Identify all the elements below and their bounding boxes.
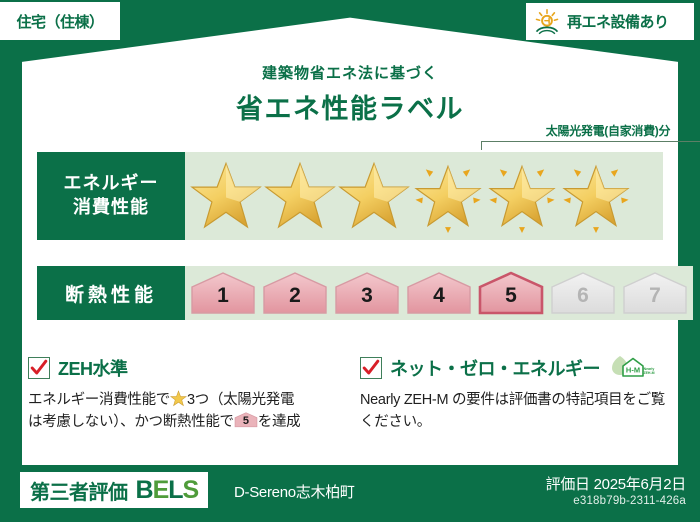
sun-icon — [533, 8, 561, 36]
criterion-zeh-body-mid: は考慮しない）、かつ断熱性能で — [28, 414, 234, 430]
criterion-zeh-title: ZEH水準 — [58, 355, 128, 381]
building-type-chip: 住宅（住棟） — [0, 2, 120, 40]
insulation-performance-row: 断熱性能 1 — [37, 266, 663, 320]
evaluation-date-label: 評価日 — [546, 476, 590, 493]
renewable-equipment-badge: 再エネ設備あり — [526, 3, 694, 40]
insulation-chip-6: 6 — [549, 271, 617, 315]
evaluation-date: 評価日 2025年6月2日 — [546, 473, 686, 494]
energy-star-2 — [263, 159, 337, 233]
insulation-chip-5-achieved: 5 — [477, 271, 545, 315]
insulation-chip-4: 4 — [405, 271, 473, 315]
check-icon — [28, 357, 50, 379]
energy-star-1 — [189, 159, 263, 233]
energy-star-6-solar — [559, 159, 633, 233]
insulation-label-text: 断熱性能 — [65, 280, 157, 307]
bels-energy-label: 住宅（住棟） 再エネ設備あり 建築物省エネ法に基づく 省エネ性能ラベル — [0, 0, 700, 522]
evaluation-date-value: 2025年6月2日 — [594, 476, 686, 493]
label-footer: 第三者評価 BELS D-Sereno志木柏町 評価日 2025年6月2日 e3… — [0, 464, 700, 522]
insulation-chip-1: 1 — [189, 271, 257, 315]
energy-performance-label: エネルギー 消費性能 — [37, 152, 185, 240]
energy-star-4-solar — [411, 159, 485, 233]
energy-star-5-solar — [485, 159, 559, 233]
inline-insulation-level-icon: 5 — [234, 412, 258, 429]
check-icon — [360, 357, 382, 379]
energy-label-line2: 消費性能 — [73, 196, 149, 220]
building-type-label: 住宅（住棟） — [16, 11, 103, 32]
inline-level-value: 5 — [234, 412, 258, 429]
insulation-chip-3-value: 3 — [361, 285, 373, 315]
label-title: 省エネ性能ラベル — [22, 87, 678, 126]
svg-text:Nearly: Nearly — [644, 367, 655, 371]
criterion-zeh-body: エネルギー消費性能で3つ（太陽光発電は考慮しない）、かつ断熱性能で5を達成 — [28, 389, 328, 434]
insulation-performance-label: 断熱性能 — [37, 266, 185, 320]
svg-text:ZEH-M: ZEH-M — [643, 371, 654, 375]
bels-wordmark: BELS — [136, 476, 199, 505]
criterion-zeh-header: ZEH水準 — [28, 355, 328, 381]
criterion-nze-header: ネット・ゼロ・エネルギー H-M Nearly ZEH-M — [360, 355, 670, 381]
building-name: D-Sereno志木柏町 — [234, 481, 355, 502]
third-party-eval-label: 第三者評価 — [30, 476, 128, 505]
insulation-chip-3: 3 — [333, 271, 401, 315]
criterion-zeh-body-pre: エネルギー消費性能で — [28, 392, 170, 408]
zeh-m-logo-icon: H-M Nearly ZEH-M — [610, 355, 656, 381]
title-block: 建築物省エネ法に基づく 省エネ性能ラベル — [22, 62, 678, 126]
energy-star-3 — [337, 159, 411, 233]
insulation-chip-7: 7 — [621, 271, 689, 315]
criterion-nze-body: Nearly ZEH-M の要件は評価書の特記項目をご覧ください。 — [360, 389, 670, 434]
criterion-net-zero-energy: ネット・ゼロ・エネルギー H-M Nearly ZEH-M Nearly ZEH… — [360, 355, 670, 434]
evaluation-id: e318b79b-2311-426a — [573, 495, 686, 507]
criterion-zeh-body-post: を達成 — [258, 414, 301, 430]
insulation-chip-7-value: 7 — [649, 285, 661, 315]
insulation-level-track: 1 2 3 4 — [185, 266, 693, 320]
insulation-chip-1-value: 1 — [217, 285, 229, 315]
criterion-zeh-suijun: ZEH水準 エネルギー消費性能で3つ（太陽光発電は考慮しない）、かつ断熱性能で5… — [28, 355, 328, 434]
energy-label-line1: エネルギー — [64, 172, 159, 196]
svg-text:H-M: H-M — [626, 366, 640, 375]
insulation-chip-2-value: 2 — [289, 285, 301, 315]
bels-certification-chip: 第三者評価 BELS — [20, 472, 208, 508]
inline-star-icon — [170, 390, 187, 407]
criterion-nze-title: ネット・ゼロ・エネルギー — [390, 355, 600, 381]
insulation-chip-5-value: 5 — [505, 285, 517, 315]
insulation-chip-2: 2 — [261, 271, 329, 315]
criterion-zeh-body-starcount: 3つ（太陽光発電 — [187, 392, 294, 408]
insulation-chip-6-value: 6 — [577, 285, 589, 315]
label-subtitle: 建築物省エネ法に基づく — [22, 62, 678, 83]
energy-star-track: 太陽光発電(自家消費)分 — [185, 152, 663, 240]
energy-performance-row: エネルギー 消費性能 — [37, 152, 663, 240]
renewable-badge-label: 再エネ設備あり — [567, 11, 669, 32]
insulation-chip-4-value: 4 — [433, 285, 445, 315]
